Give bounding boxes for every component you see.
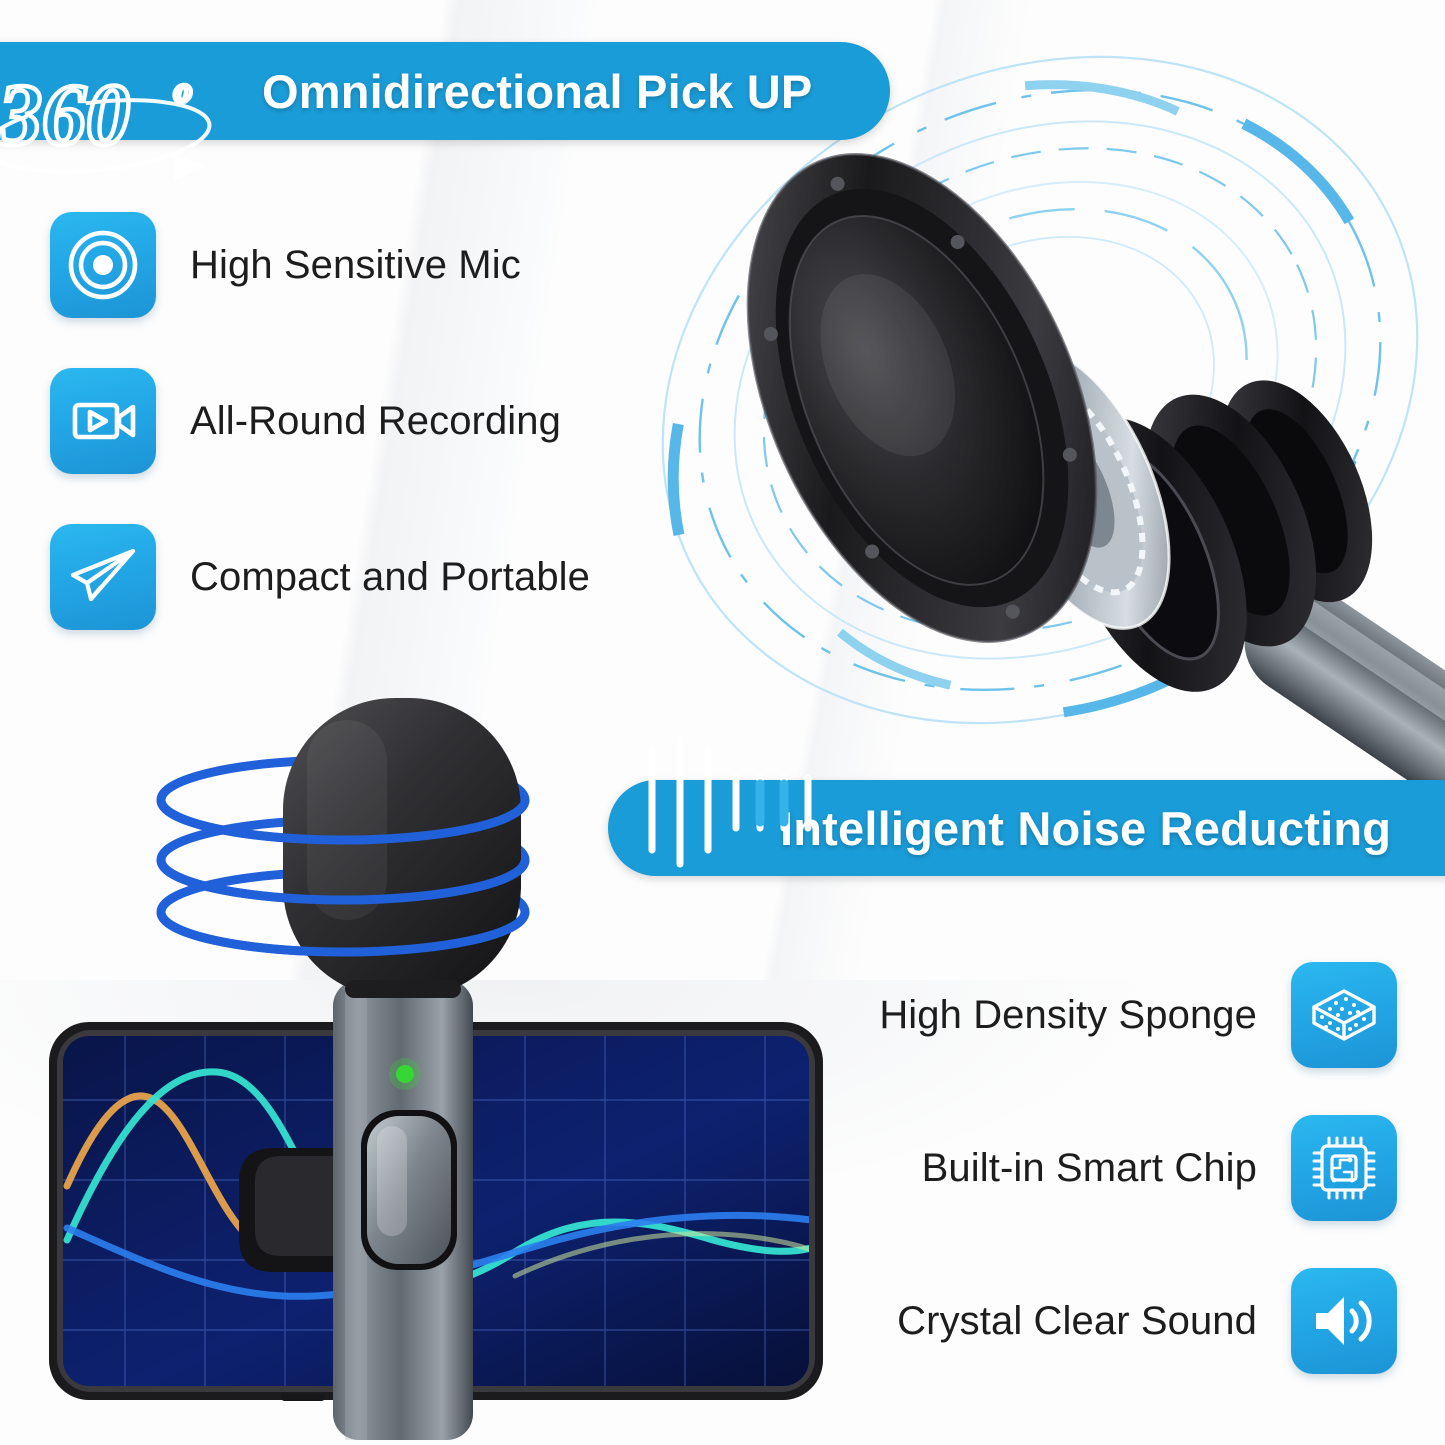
sponge-block-icon — [1291, 962, 1397, 1068]
feature-smart-chip: Built-in Smart Chip — [922, 1115, 1397, 1221]
banner-top-title: Omnidirectional Pick UP — [262, 64, 812, 119]
feature-high-density-sponge: High Density Sponge — [879, 962, 1397, 1068]
sensitive-mic-icon — [50, 212, 156, 318]
banner-bottom-title: Intelligent Noise Reducting — [780, 801, 1391, 856]
feature-all-round-recording: All-Round Recording — [50, 368, 561, 474]
speaker-sound-icon — [1291, 1268, 1397, 1374]
feature-crystal-clear-sound: Crystal Clear Sound — [897, 1268, 1397, 1374]
feature-label: High Density Sponge — [879, 993, 1257, 1038]
feature-compact-portable: Compact and Portable — [50, 524, 590, 630]
video-camera-icon — [50, 368, 156, 474]
feature-label: Crystal Clear Sound — [897, 1299, 1257, 1344]
svg-text:360: 360 — [0, 67, 130, 164]
banner-omnidirectional: 360 o Omnidirectional Pick UP — [0, 42, 890, 140]
product-infographic: 360 o Omnidirectional Pick UP — [0, 0, 1445, 1445]
svg-text:o: o — [174, 70, 192, 110]
rotation-arrow-icon: 360 o — [0, 44, 246, 184]
feature-label: Built-in Smart Chip — [922, 1146, 1257, 1191]
feature-label: All-Round Recording — [190, 399, 561, 444]
feature-label: High Sensitive Mic — [190, 243, 521, 288]
feature-high-sensitive-mic: High Sensitive Mic — [50, 212, 521, 318]
paper-plane-icon — [50, 524, 156, 630]
phone-with-microphone — [45, 680, 835, 1440]
feature-label: Compact and Portable — [190, 555, 590, 600]
cpu-chip-icon — [1291, 1115, 1397, 1221]
